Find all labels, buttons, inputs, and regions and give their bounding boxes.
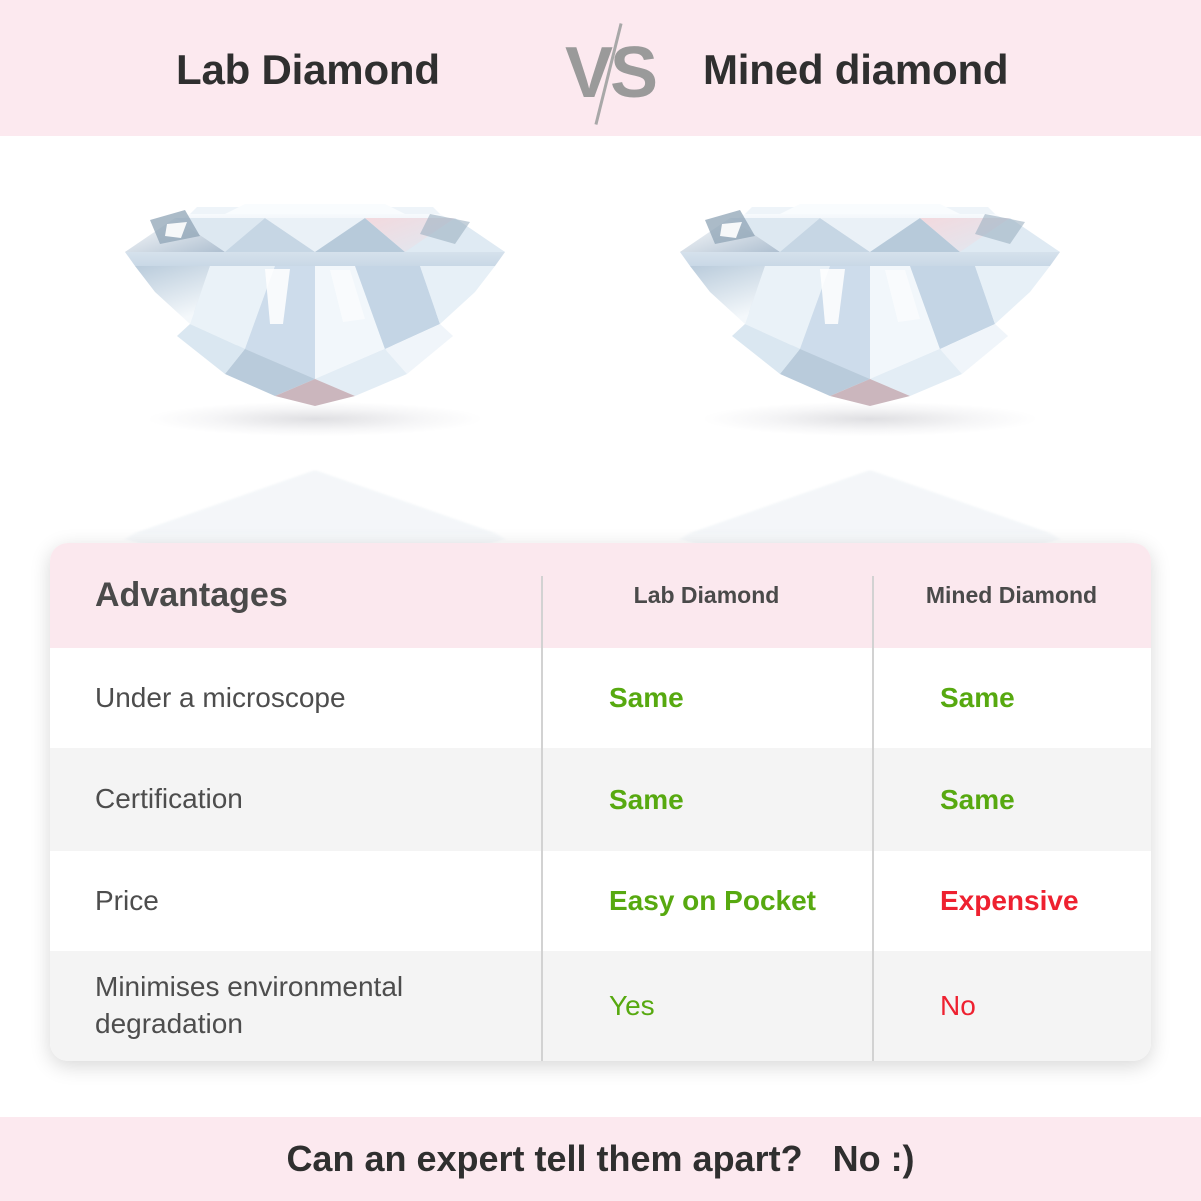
row-value-lab: Same <box>541 682 872 714</box>
lab-diamond-image <box>105 156 525 486</box>
row-value-mined: Expensive <box>872 885 1151 917</box>
row-value-lab: Easy on Pocket <box>541 885 872 917</box>
page-title-lab-diamond: Lab Diamond <box>176 46 440 94</box>
row-value-mined: No <box>872 990 1151 1022</box>
table-row: Price Easy on Pocket Expensive <box>50 851 1151 951</box>
column-header-lab-diamond: Lab Diamond <box>541 582 872 609</box>
page-title-mined-diamond: Mined diamond <box>703 46 1008 94</box>
lab-diamond-icon <box>115 174 515 409</box>
footer-band: Can an expert tell them apart? No :) <box>0 1117 1201 1201</box>
table-row: Certification Same Same <box>50 748 1151 851</box>
table-header-row: Advantages Lab Diamond Mined Diamond <box>50 543 1151 648</box>
table-row: Under a microscope Same Same <box>50 648 1151 748</box>
mined-diamond-image <box>660 156 1080 486</box>
row-value-mined: Same <box>872 682 1151 714</box>
row-label: Minimises environmental degradation <box>50 969 541 1043</box>
comparison-table-card: Advantages Lab Diamond Mined Diamond Und… <box>50 543 1151 1061</box>
row-label: Certification <box>50 781 541 818</box>
column-header-advantages: Advantages <box>50 576 541 615</box>
column-divider-2 <box>872 576 874 1061</box>
row-value-mined: Same <box>872 784 1151 816</box>
versus-badge: VS <box>555 18 665 128</box>
row-label: Under a microscope <box>50 680 541 717</box>
row-value-lab: Same <box>541 784 872 816</box>
row-label: Price <box>50 883 541 920</box>
header-band: Lab Diamond VS Mined diamond <box>0 0 1201 136</box>
row-value-lab: Yes <box>541 990 872 1022</box>
footer-question: Can an expert tell them apart? No :) <box>286 1138 914 1180</box>
column-header-mined-diamond: Mined Diamond <box>872 582 1151 609</box>
diamond-gallery <box>0 136 1201 536</box>
mined-diamond-icon <box>670 174 1070 409</box>
table-row: Minimises environmental degradation Yes … <box>50 951 1151 1061</box>
column-divider-1 <box>541 576 543 1061</box>
